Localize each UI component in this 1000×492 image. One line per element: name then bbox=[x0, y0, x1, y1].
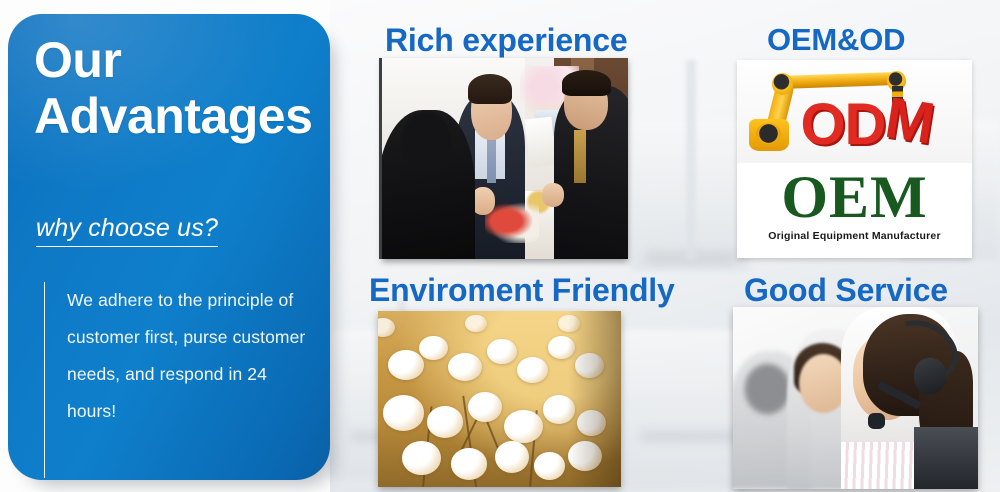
call-centre-scene bbox=[733, 307, 978, 489]
advantages-card: Our Advantages why choose us? We adhere … bbox=[8, 14, 330, 480]
robot-base-icon bbox=[749, 119, 789, 151]
heading-good-service: Good Service bbox=[744, 272, 948, 309]
odm-text: ODM bbox=[800, 92, 932, 157]
odm-wordmark: ODM bbox=[800, 96, 965, 154]
robot-joint-icon bbox=[772, 73, 793, 95]
title-line-2: Advantages bbox=[34, 88, 324, 144]
photo-rich-experience bbox=[382, 58, 628, 259]
heading-enviroment-friendly: Enviroment Friendly bbox=[369, 272, 675, 309]
card-body-wrap: We adhere to the principle of customer f… bbox=[44, 282, 306, 478]
card-body-text: We adhere to the principle of customer f… bbox=[67, 282, 306, 430]
oem-wordmark: OEM bbox=[737, 167, 972, 227]
page-title: Our Advantages bbox=[34, 32, 324, 144]
card-subtitle: why choose us? bbox=[36, 214, 218, 247]
heading-oem-odm: OEM&OD bbox=[767, 22, 905, 58]
headset-mic-icon bbox=[868, 413, 885, 429]
meeting-scene bbox=[382, 58, 628, 259]
odm-oem-graphic: ODM OEM Original Equipment Manufacturer bbox=[737, 60, 972, 258]
cotton-field-scene bbox=[378, 311, 621, 487]
advantages-banner: Our Advantages why choose us? We adhere … bbox=[0, 0, 1000, 492]
photo-good-service bbox=[733, 307, 978, 489]
oem-caption: Original Equipment Manufacturer bbox=[737, 230, 972, 242]
photo-enviroment-friendly bbox=[378, 311, 621, 487]
title-line-1: Our bbox=[34, 32, 121, 88]
heading-rich-experience: Rich experience bbox=[385, 22, 627, 59]
photo-oem-odm: ODM OEM Original Equipment Manufacturer bbox=[737, 60, 972, 258]
headset-earcup-icon bbox=[914, 358, 946, 394]
